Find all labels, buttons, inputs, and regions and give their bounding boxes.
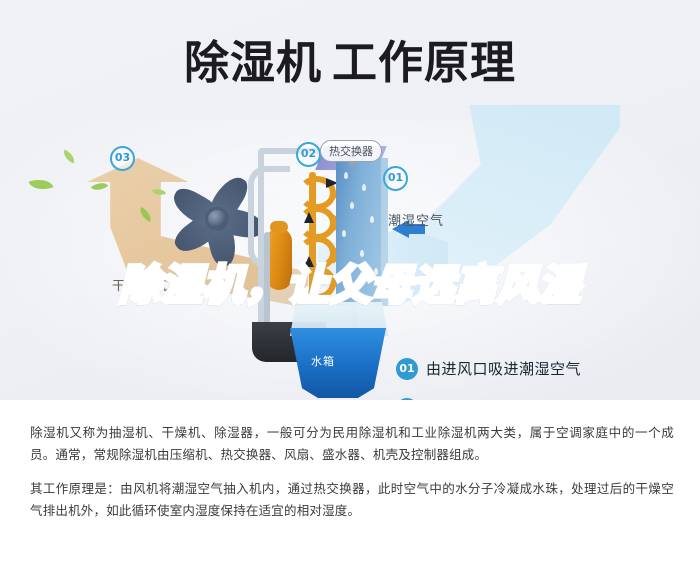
diagram-badge-03: 03 [110,146,135,171]
page-title-part1: 除湿机 [184,36,322,89]
body-paragraph-1: 除湿机又称为抽湿机、干燥机、除湿器，一般可分为民用除湿机和工业除湿机两大类，属于… [30,422,674,466]
fan-hub [208,210,226,228]
water-droplet-icon [362,184,366,191]
water-droplet-icon [342,230,346,237]
page-title: 除湿机工作原理 [0,36,700,90]
water-droplet-icon [344,172,348,179]
infographic-page: 除湿机工作原理 干燥空气 [0,0,700,566]
water-tank-label: 水箱 [311,353,335,369]
list-item: 02 潮湿空气经过蒸发器冷凝成水珠 [396,396,688,400]
flow-arrow-up-icon [304,212,314,223]
list-item: 01 由进风口吸进潮湿空气 [396,356,688,396]
steps-list: 01 由进风口吸进潮湿空气 02 潮湿空气经过蒸发器冷凝成水珠 03 从上部出风… [396,356,688,400]
step-number: 02 [396,398,418,400]
water-droplet-icon [370,216,374,223]
humid-air-label: 潮湿空气 [388,210,444,229]
leaf-icon [61,149,77,163]
diagram-badge-01: 01 [383,166,408,191]
overlay-headline: 除湿机，让父母远离风湿 [0,262,700,308]
overlay-headline-text: 除湿机，让父母远离风湿 [119,261,581,309]
water-tank [288,328,388,398]
step-text: 潮湿空气经过蒸发器冷凝成水珠 [426,398,643,400]
step-text: 由进风口吸进潮湿空气 [426,358,581,379]
heat-exchanger-callout: 热交换器 [320,140,382,162]
leaf-icon [29,175,54,194]
diagram-stage: 干燥空气 [0,110,700,400]
body-text-panel: 除湿机又称为抽湿机、干燥机、除湿器，一般可分为民用除湿机和工业除湿机两大类，属于… [0,400,700,566]
step-number: 01 [396,358,418,380]
water-droplet-icon [360,250,364,257]
page-title-part2: 工作原理 [332,36,516,89]
water-droplet-icon [350,202,354,209]
body-paragraph-2: 其工作原理是：由风机将潮湿空气抽入机内，通过热交换器，此时空气中的水分子冷凝成水… [30,478,674,522]
hero-panel: 除湿机工作原理 干燥空气 [0,0,700,400]
diagram-badge-02: 02 [296,142,321,167]
